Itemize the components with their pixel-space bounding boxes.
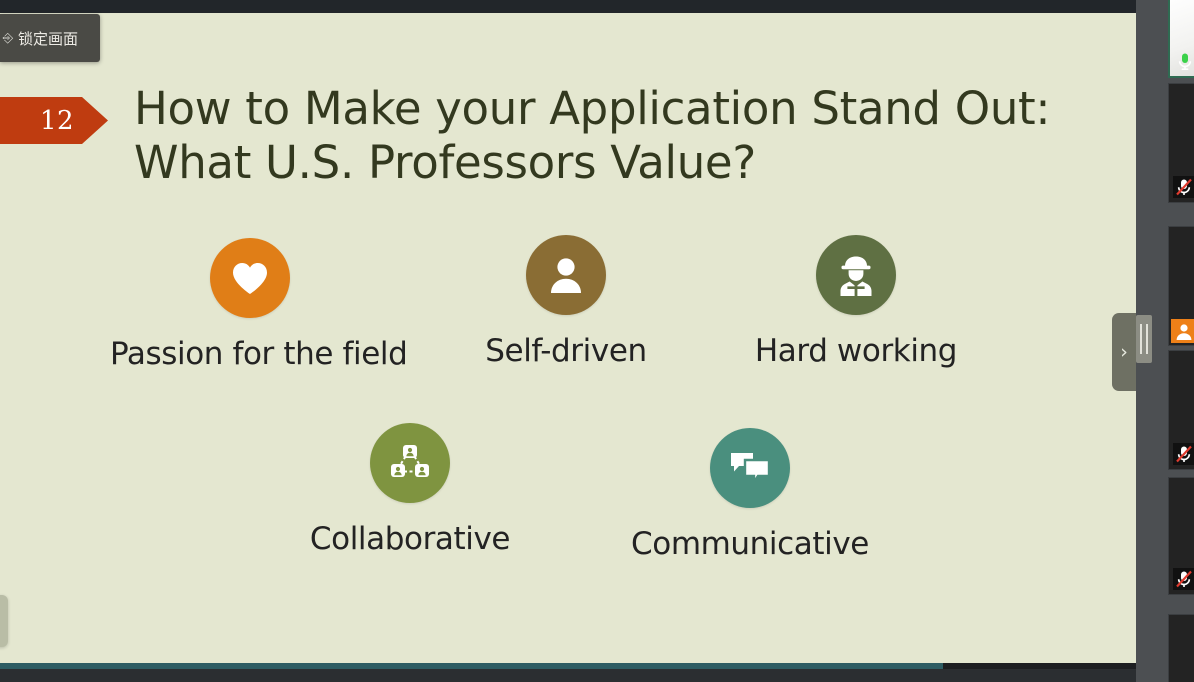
slide-number-badge: 12 [0,97,108,144]
value-item-label: Collaborative [290,522,530,556]
slide-progress-fill [0,663,943,669]
speech-bubbles-icon [710,428,790,508]
chevron-right-icon[interactable]: › [1112,313,1136,391]
tooltip-label: 锁定画面 [16,28,78,49]
slide-number: 12 [0,108,74,134]
mic-muted-icon [1173,568,1194,590]
mic-muted-icon [1173,176,1194,198]
worker-icon [816,235,896,315]
mic-muted-icon [1173,443,1194,465]
avatar-icon [1171,319,1194,343]
participant-tile[interactable] [1168,226,1194,346]
value-item-collaborative: Collaborative [290,423,530,556]
slide-progress-track[interactable] [0,663,1136,669]
participant-tile[interactable] [1168,350,1194,470]
window-top-bar [0,0,1194,13]
participant-tile[interactable] [1168,0,1194,78]
mic-on-icon [1174,50,1194,72]
slide-title: How to Make your Application Stand Out: … [134,82,1034,190]
participant-tile[interactable] [1168,614,1194,682]
heart-icon [210,238,290,318]
person-icon [526,235,606,315]
app-window: 12 How to Make your Application Stand Ou… [0,0,1194,682]
value-item-hard-working: Hard working [736,235,976,368]
lock-screen-icon: ⎆ [0,31,16,46]
value-item-label: Passion for the field [110,337,390,371]
participant-video [1169,615,1194,682]
slide-title-line-2: What U.S. Professors Value? [134,136,1034,190]
slide-title-line-1: How to Make your Application Stand Out: [134,82,1034,136]
lock-screen-tooltip: ⎆ 锁定画面 [0,14,100,62]
participant-tile[interactable] [1168,477,1194,595]
drag-handle-icon[interactable] [1136,315,1152,363]
network-people-icon [370,423,450,503]
participant-tile[interactable] [1168,83,1194,203]
value-item-communicative: Communicative [630,428,870,561]
value-item-self-driven: Self-driven [446,235,686,368]
value-item-label: Hard working [736,334,976,368]
value-item-label: Communicative [630,527,870,561]
value-item-label: Self-driven [446,334,686,368]
presentation-slide[interactable]: 12 How to Make your Application Stand Ou… [0,13,1136,669]
panel-handle-icon[interactable] [0,595,8,647]
participant-tiles [1168,0,1194,682]
value-item-passion: Passion for the field [110,238,390,371]
